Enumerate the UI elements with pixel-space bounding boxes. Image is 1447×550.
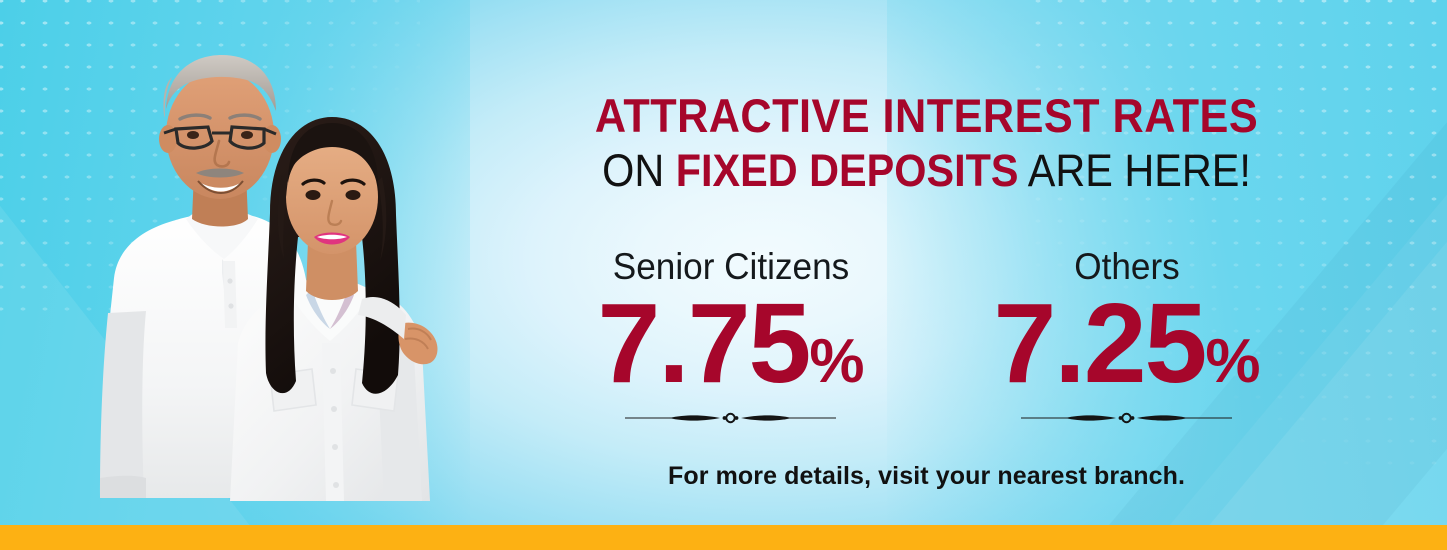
headline-line-2: ON FIXED DEPOSITS ARE HERE! bbox=[497, 148, 1355, 193]
rate-percent-sign: % bbox=[809, 327, 863, 396]
call-to-action-text: For more details, visit your nearest bra… bbox=[460, 462, 1393, 491]
terms-and-conditions-text: T & C Apply, February 2023. bbox=[1439, 547, 1447, 550]
rate-percent-sign: % bbox=[1205, 327, 1259, 396]
rate-block-others: Others 7.25% bbox=[977, 248, 1277, 426]
rate-number: 7.25 bbox=[993, 280, 1205, 406]
rate-label: Senior Citizens bbox=[588, 248, 873, 285]
headline: ATTRACTIVE INTEREST RATES ON FIXED DEPOS… bbox=[460, 92, 1393, 193]
headline-line-2-prefix: ON bbox=[602, 145, 676, 196]
rate-value: 7.25% bbox=[977, 287, 1277, 400]
rates-row: Senior Citizens 7.75% Others 7.25% bbox=[510, 248, 1347, 426]
bottom-accent-bar bbox=[0, 525, 1447, 550]
rate-number: 7.75 bbox=[597, 280, 809, 406]
ornamental-divider-icon bbox=[1019, 410, 1234, 426]
fixed-deposit-promo-banner: ATTRACTIVE INTEREST RATES ON FIXED DEPOS… bbox=[0, 0, 1447, 550]
rate-value: 7.75% bbox=[581, 287, 881, 400]
headline-line-2-suffix: ARE HERE! bbox=[1019, 145, 1251, 196]
couple-photo bbox=[26, 23, 456, 528]
rate-label: Others bbox=[984, 248, 1269, 285]
ornamental-divider-icon bbox=[623, 410, 838, 426]
headline-line-1: ATTRACTIVE INTEREST RATES bbox=[497, 92, 1355, 139]
headline-line-2-emphasis: FIXED DEPOSITS bbox=[676, 145, 1019, 196]
banner-content: ATTRACTIVE INTEREST RATES ON FIXED DEPOS… bbox=[460, 0, 1407, 525]
rate-block-senior-citizens: Senior Citizens 7.75% bbox=[581, 248, 881, 426]
